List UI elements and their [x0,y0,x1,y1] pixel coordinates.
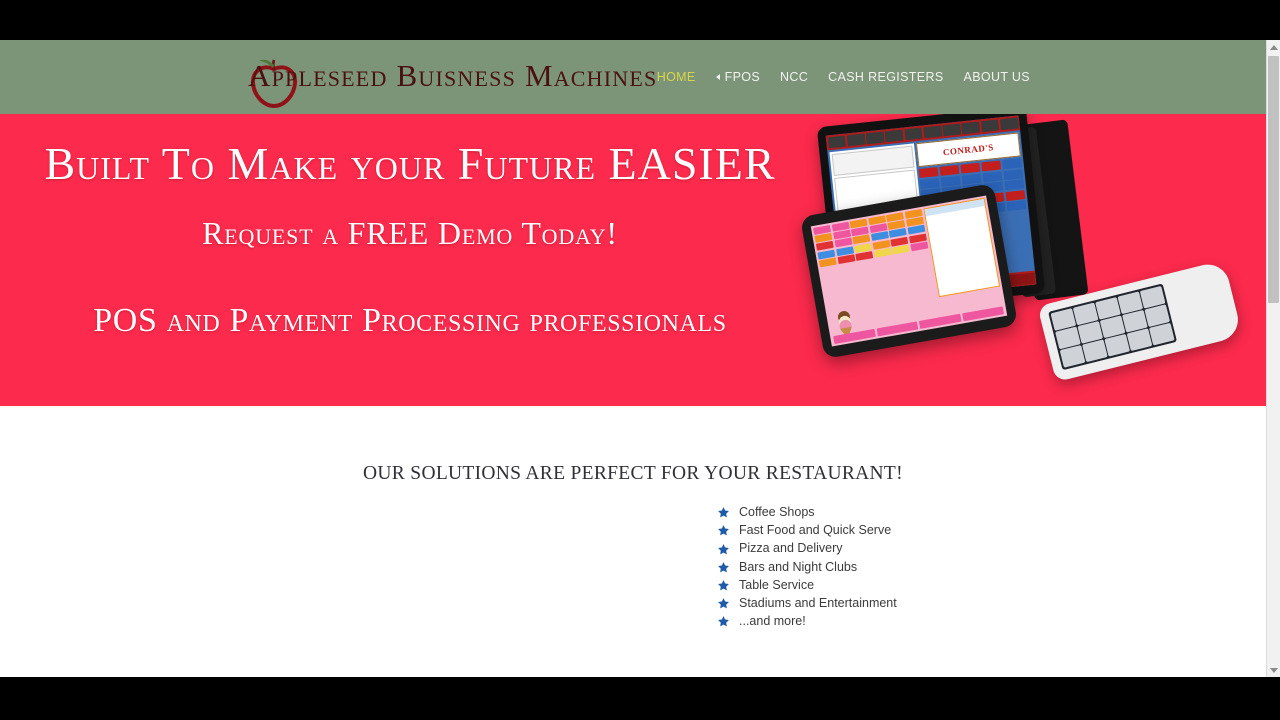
hero-headline: Built To Make your Future EASIER [0,136,820,192]
star-icon [717,615,730,628]
hero-subheadline: Request a FREE Demo Today! [0,214,820,252]
star-icon [717,506,730,519]
scroll-up-arrow[interactable] [1267,40,1280,54]
tablet-menu-keys [811,207,931,270]
nav-item-ncc-label: NCC [780,70,808,84]
list-item: Pizza and Delivery [717,540,783,558]
site-logo[interactable]: Appleseed Buisness Machines [240,60,657,91]
nav-item-home[interactable]: HOME [657,70,696,84]
list-item: Stadiums and Entertainment [717,595,783,613]
tablet-order-panel [923,198,1000,298]
nav-item-ncc[interactable]: NCC [780,70,808,84]
list-item: Table Service [717,577,783,595]
list-item-label: Table Service [739,577,814,595]
chevron-down-icon [716,74,720,80]
site-logo-text: Appleseed Buisness Machines [240,60,657,91]
site-header: Appleseed Buisness Machines HOME FPOS NC… [0,40,1266,114]
list-item-label: Pizza and Delivery [739,540,843,558]
star-icon [717,561,730,574]
nav-item-fpos[interactable]: FPOS [716,70,760,84]
nav-item-cash-registers[interactable]: CASH REGISTERS [828,70,943,84]
main-navigation: HOME FPOS NCC CASH REGISTERS ABOUT US [657,70,1030,84]
scrollbar-thumb[interactable] [1268,56,1279,303]
hero-tagline: POS and Payment Processing professionals [0,301,820,342]
list-item: Bars and Night Clubs [717,559,783,577]
nav-item-home-label: HOME [657,70,696,84]
nav-item-fpos-label: FPOS [725,70,760,84]
list-item-label: Coffee Shops [739,504,815,522]
list-item: Fast Food and Quick Serve [717,522,783,540]
solutions-list: Coffee Shops Fast Food and Quick Serve P… [483,504,783,631]
tablet-action-keys [830,306,1007,345]
hero-device-artwork: CONRAD'S [816,114,1266,406]
hero-copy: Built To Make your Future EASIER Request… [0,114,820,341]
star-icon [717,597,730,610]
nav-item-about-us-label: ABOUT US [964,70,1030,84]
list-item-label: ...and more! [739,613,806,631]
solutions-section: OUR SOLUTIONS ARE PERFECT FOR YOUR RESTA… [0,406,1266,631]
web-page: Appleseed Buisness Machines HOME FPOS NC… [0,40,1266,677]
page-scrollbar[interactable] [1266,40,1280,677]
nav-item-about-us[interactable]: ABOUT US [964,70,1030,84]
list-item-label: Bars and Night Clubs [739,559,857,577]
browser-chrome-bottom [0,677,1280,720]
star-icon [717,543,730,556]
page-viewport: Appleseed Buisness Machines HOME FPOS NC… [0,40,1280,677]
star-icon [717,524,730,537]
list-item-label: Stadiums and Entertainment [739,595,897,613]
tablet-pos-screen [811,195,1007,346]
list-item: Coffee Shops [717,504,783,522]
scroll-down-arrow[interactable] [1267,663,1280,677]
solutions-title: OUR SOLUTIONS ARE PERFECT FOR YOUR RESTA… [0,463,1266,485]
nav-item-cash-registers-label: CASH REGISTERS [828,70,943,84]
list-item: ...and more! [717,613,783,631]
browser-chrome-top [0,0,1280,40]
list-item-label: Fast Food and Quick Serve [739,522,891,540]
browser-window: Appleseed Buisness Machines HOME FPOS NC… [0,0,1280,720]
hero-banner: Built To Make your Future EASIER Request… [0,114,1266,406]
star-icon [717,579,730,592]
